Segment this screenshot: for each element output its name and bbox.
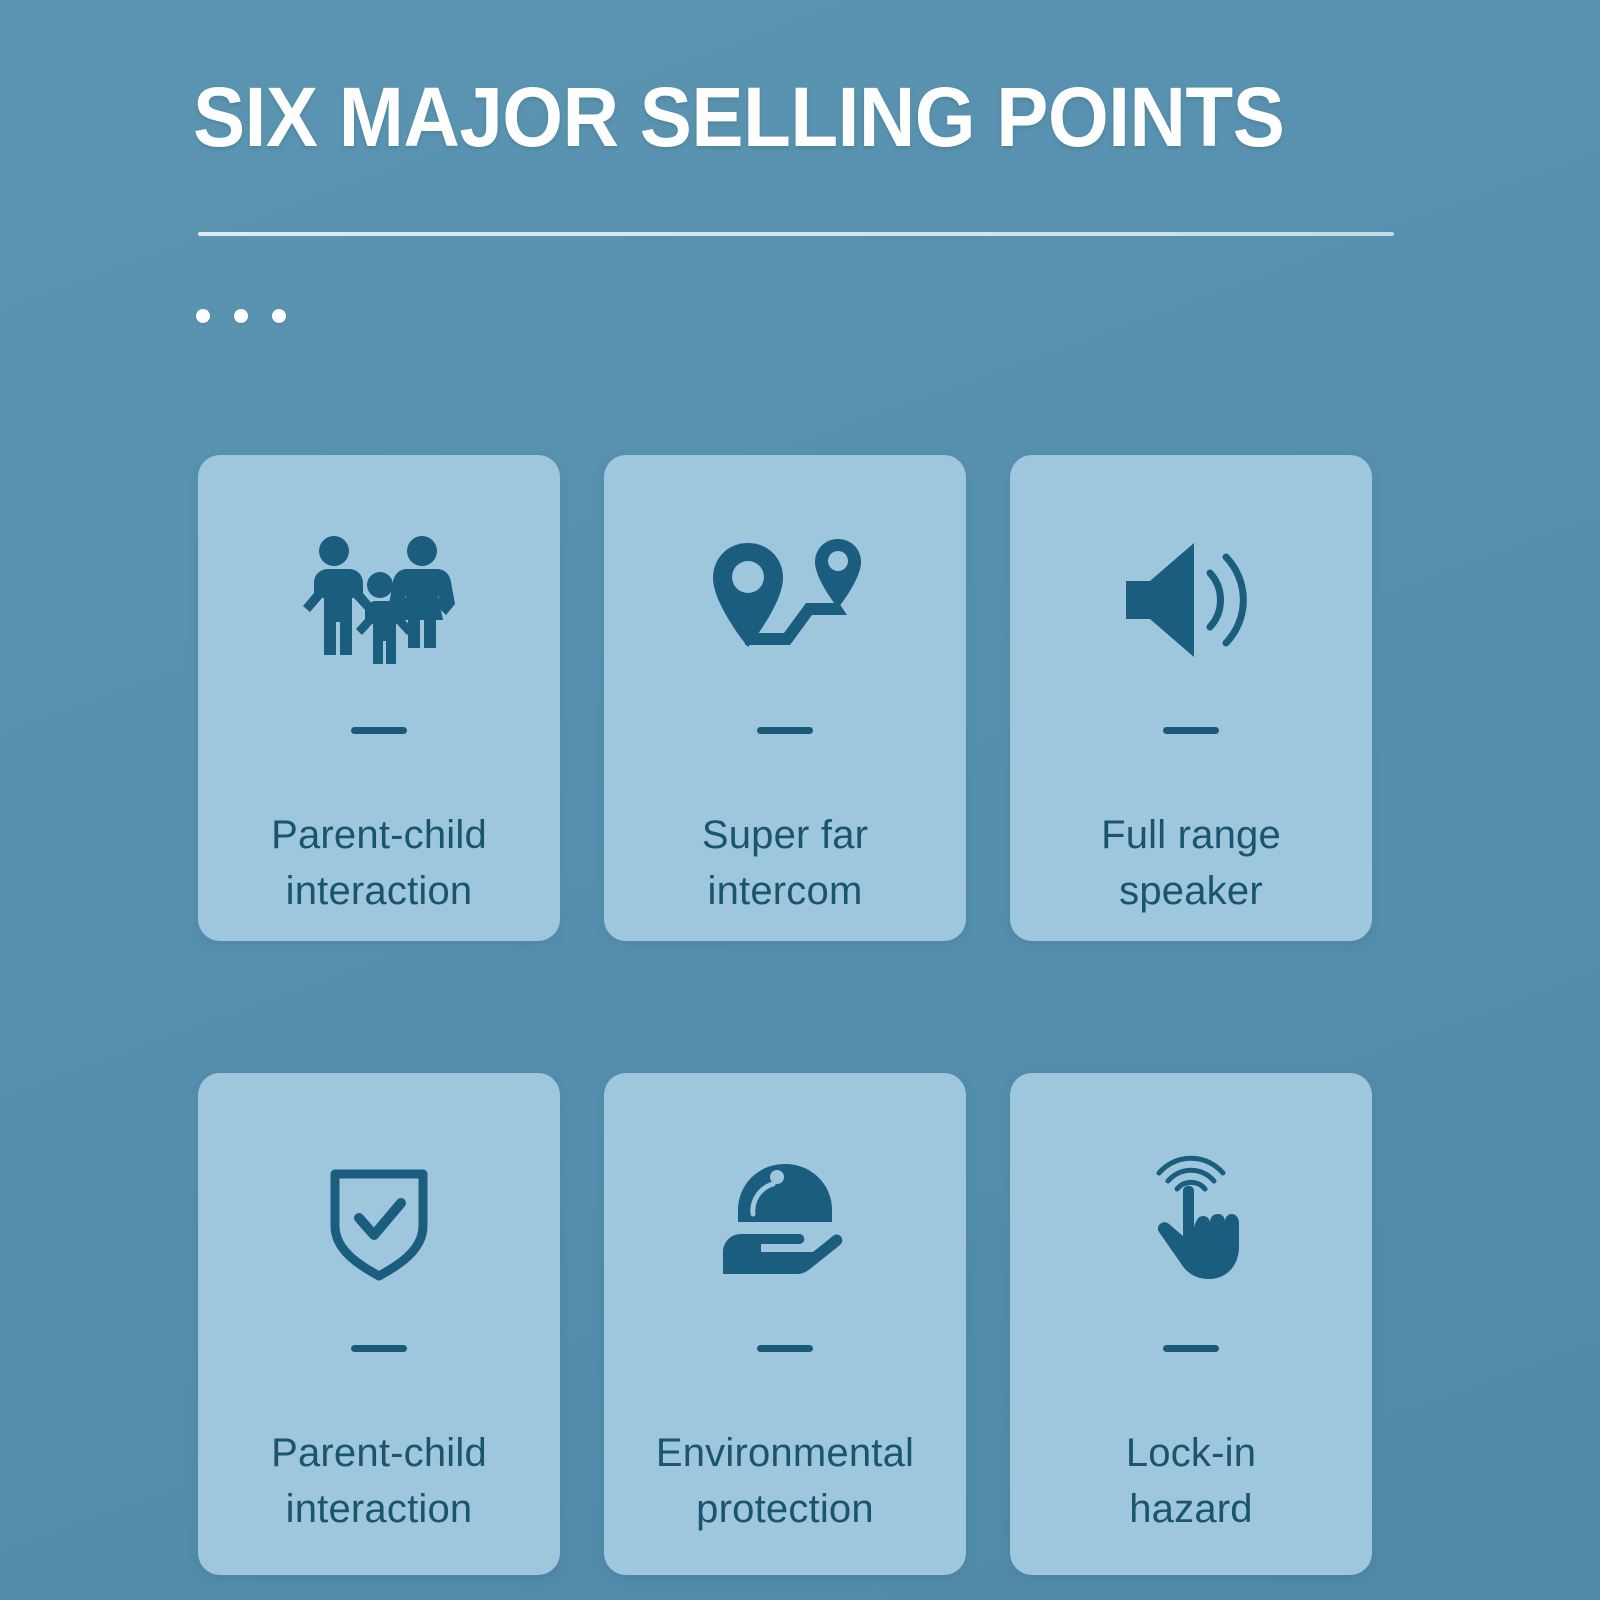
family-icon <box>294 517 464 682</box>
card-label-line-2: speaker <box>1041 863 1341 919</box>
card-label-line-1: Parent-child <box>229 1425 529 1481</box>
speaker-volume-icon <box>1106 517 1276 682</box>
card-label-line-1: Super far <box>635 807 935 863</box>
dot-indicator-group <box>196 309 286 323</box>
card-divider-dash <box>1163 1345 1219 1352</box>
card-label: Parent-child interaction <box>229 1425 529 1537</box>
selling-point-card-super-far-intercom[interactable]: Super far intercom <box>604 455 966 941</box>
card-label: Environmental protection <box>635 1425 935 1537</box>
dot-indicator-2 <box>234 309 248 323</box>
card-label: Full range speaker <box>1041 807 1341 919</box>
hand-dome-icon <box>705 1135 865 1300</box>
card-label-line-2: hazard <box>1041 1481 1341 1537</box>
selling-points-grid: Parent-child interaction Su <box>198 455 1372 1575</box>
selling-point-card-full-range-speaker[interactable]: Full range speaker <box>1010 455 1372 941</box>
shield-check-icon <box>309 1135 449 1300</box>
card-divider-dash <box>1163 727 1219 734</box>
card-label-line-2: interaction <box>229 1481 529 1537</box>
card-label-line-2: interaction <box>229 863 529 919</box>
dot-indicator-3 <box>272 309 286 323</box>
selling-point-card-lock-in-hazard[interactable]: Lock-in hazard <box>1010 1073 1372 1575</box>
selling-point-card-environmental-protection[interactable]: Environmental protection <box>604 1073 966 1575</box>
selling-point-card-parent-child-interaction-2[interactable]: Parent-child interaction <box>198 1073 560 1575</box>
card-label-line-2: intercom <box>635 863 935 919</box>
card-label-line-1: Lock-in <box>1041 1425 1341 1481</box>
card-divider-dash <box>757 727 813 734</box>
page-title: SIX MAJOR SELLING POINTS <box>193 74 1284 160</box>
header-divider <box>198 232 1394 236</box>
card-label: Super far intercom <box>635 807 935 919</box>
card-label-line-1: Parent-child <box>229 807 529 863</box>
route-pins-icon <box>700 517 870 682</box>
card-label-line-2: protection <box>635 1481 935 1537</box>
infographic-page: SIX MAJOR SELLING POINTS <box>0 0 1600 1600</box>
card-divider-dash <box>351 1345 407 1352</box>
card-label: Lock-in hazard <box>1041 1425 1341 1537</box>
selling-point-card-parent-child-interaction[interactable]: Parent-child interaction <box>198 455 560 941</box>
card-divider-dash <box>351 727 407 734</box>
touch-tap-icon <box>1121 1135 1261 1300</box>
card-label: Parent-child interaction <box>229 807 529 919</box>
card-divider-dash <box>757 1345 813 1352</box>
card-label-line-1: Environmental <box>635 1425 935 1481</box>
card-label-line-1: Full range <box>1041 807 1341 863</box>
dot-indicator-1 <box>196 309 210 323</box>
